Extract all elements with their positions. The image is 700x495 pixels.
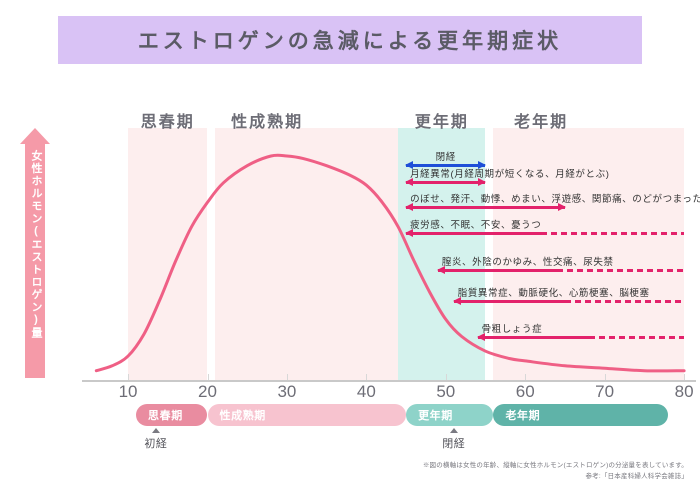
life-stage-label: 更年期	[406, 407, 453, 423]
x-tick-mark	[366, 374, 367, 380]
marker-label: 閉経	[419, 435, 489, 451]
period-header-1: 思春期	[141, 108, 195, 132]
x-tick-mark	[525, 374, 526, 380]
arrow-dashed-segment	[565, 300, 684, 303]
life-stage-segment-3: 更年期	[406, 404, 493, 426]
annotation-arrow	[406, 179, 485, 187]
annotation-label: 骨粗しょう症	[482, 321, 543, 335]
period-header-4: 老年期	[514, 108, 568, 132]
arrow-solid-segment	[406, 206, 565, 209]
arrow-solid-segment	[478, 336, 589, 339]
annotation-label: 閉経	[436, 149, 456, 163]
period-header-3: 更年期	[415, 108, 469, 132]
arrow-solid-segment	[454, 300, 565, 303]
marker-1: 初経	[121, 428, 191, 451]
life-stage-segment-2: 性成熟期	[208, 404, 407, 426]
annotation-arrow	[454, 298, 684, 306]
arrow-head-left-icon	[453, 297, 461, 305]
triangle-up-icon	[450, 428, 458, 433]
y-axis-arrow: 女性ホルモン(エストロゲン)量	[20, 128, 50, 378]
annotation-label: 膣炎、外陰のかゆみ、性交痛、尿失禁	[442, 254, 614, 268]
life-stage-label: 性成熟期	[208, 407, 266, 423]
triangle-up-icon	[152, 428, 160, 433]
y-axis-label: 女性ホルモン(エストロゲン)量	[26, 150, 44, 340]
arrow-head-left-icon	[405, 229, 413, 237]
annotation-label: 月経異常(月経周期が短くなる、月経がとぶ)	[410, 166, 609, 180]
marker-2: 閉経	[419, 428, 489, 451]
arrow-head-right-icon	[478, 178, 486, 186]
page-title: エストロゲンの急減による更年期症状	[138, 25, 562, 55]
title-banner: エストロゲンの急減による更年期症状	[58, 16, 642, 64]
x-tick-mark	[684, 374, 685, 380]
x-tick-label-80: 80	[664, 382, 700, 402]
life-stage-segment-1: 思春期	[136, 404, 207, 426]
annotation-row-3: のぼせ、発汗、動悸、めまい、浮遊感、関節痛、のどがつまった感じ	[406, 190, 565, 212]
arrow-dashed-segment	[589, 336, 684, 339]
annotation-row-7: 骨粗しょう症	[478, 320, 685, 342]
annotation-row-6: 脂質異常症、動脈硬化、心筋梗塞、脳梗塞	[454, 284, 684, 306]
annotation-arrow	[406, 204, 565, 212]
footnote-line-2: 参考:「日本産科婦人科学会雑誌」	[423, 471, 688, 482]
footnote: ※図の横軸は女性の年齢、縦軸に女性ホルモン(エストロゲン)の分泌量を表しています…	[423, 460, 688, 482]
arrow-solid-segment	[406, 181, 485, 184]
x-tick-label-50: 50	[426, 382, 466, 402]
infographic-canvas: エストロゲンの急減による更年期症状 女性ホルモン(エストロゲン)量 思春期性成熟…	[0, 0, 700, 495]
arrow-head-left-icon	[405, 178, 413, 186]
arrow-solid-segment	[438, 269, 557, 272]
annotation-label: 疲労感、不眠、不安、憂うつ	[410, 217, 541, 231]
annotation-arrow	[478, 334, 685, 342]
marker-label: 初経	[121, 435, 191, 451]
arrow-head-right-icon	[558, 203, 566, 211]
period-header-2: 性成熟期	[231, 108, 303, 132]
annotation-label: 脂質異常症、動脈硬化、心筋梗塞、脳梗塞	[458, 285, 650, 299]
annotation-label: のぼせ、発汗、動悸、めまい、浮遊感、関節痛、のどがつまった感じ	[410, 191, 700, 205]
x-tick-label-70: 70	[585, 382, 625, 402]
annotation-row-2: 月経異常(月経周期が短くなる、月経がとぶ)	[406, 165, 485, 187]
x-tick-label-30: 30	[267, 382, 307, 402]
x-tick-label-60: 60	[505, 382, 545, 402]
annotation-row-5: 膣炎、外陰のかゆみ、性交痛、尿失禁	[438, 253, 684, 275]
arrow-head-left-icon	[405, 203, 413, 211]
x-tick-mark	[128, 374, 129, 380]
x-tick-label-20: 20	[188, 382, 228, 402]
life-stage-label: 老年期	[493, 407, 540, 423]
x-tick-label-40: 40	[346, 382, 386, 402]
x-tick-mark	[208, 374, 209, 380]
x-tick-mark	[605, 374, 606, 380]
life-stage-segment-4: 老年期	[493, 404, 668, 426]
arrow-solid-segment	[406, 232, 541, 235]
footnote-line-1: ※図の横軸は女性の年齢、縦軸に女性ホルモン(エストロゲン)の分泌量を表しています…	[423, 460, 688, 471]
arrow-head-left-icon	[477, 333, 485, 341]
life-stage-bar: 思春期性成熟期更年期老年期	[118, 404, 574, 426]
annotation-arrow	[406, 230, 684, 238]
life-stage-label: 思春期	[136, 407, 183, 423]
arrow-head-left-icon	[437, 266, 445, 274]
arrow-dashed-segment	[541, 232, 684, 235]
x-tick-mark	[446, 374, 447, 380]
x-tick-label-10: 10	[108, 382, 148, 402]
arrow-dashed-segment	[557, 269, 684, 272]
annotation-arrow	[438, 267, 684, 275]
annotation-row-4: 疲労感、不眠、不安、憂うつ	[406, 216, 684, 238]
x-tick-mark	[287, 374, 288, 380]
